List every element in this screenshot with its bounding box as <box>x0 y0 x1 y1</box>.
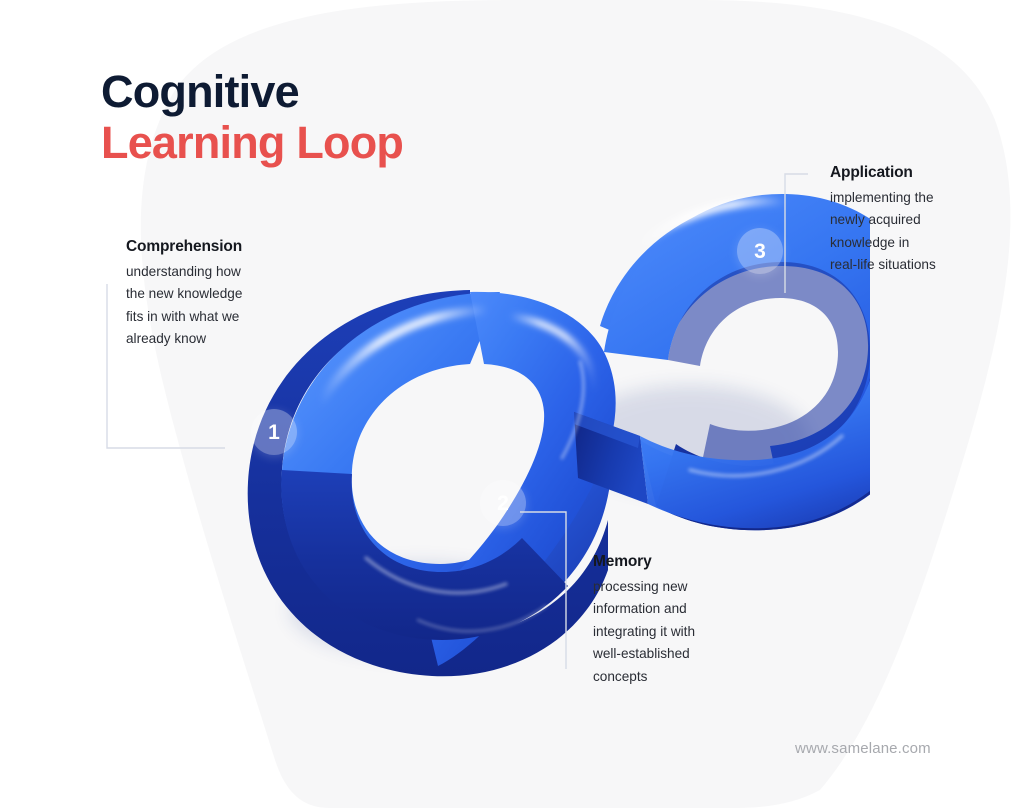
annotation-comprehension: Comprehension understanding howthe new k… <box>126 238 336 351</box>
title-line-primary: Cognitive <box>101 66 621 117</box>
annotation-memory: Memory processing newinformation andinte… <box>593 553 793 688</box>
step-badge-2-number: 2 <box>497 493 509 514</box>
step-badge-1[interactable]: 1 <box>251 409 297 455</box>
step-badge-3-number: 3 <box>754 241 766 262</box>
infographic-canvas: Cognitive Learning Loop <box>0 0 1024 808</box>
annotation-memory-title: Memory <box>593 553 793 571</box>
annotation-application-body: implementing thenewly acquiredknowledge … <box>830 187 1024 277</box>
annotation-application: Application implementing thenewly acquir… <box>830 164 1024 277</box>
footer-url: www.samelane.com <box>795 740 931 757</box>
annotation-memory-body: processing newinformation andintegrating… <box>593 576 793 688</box>
annotation-comprehension-body: understanding howthe new knowledgefits i… <box>126 261 336 351</box>
step-badge-3[interactable]: 3 <box>737 228 783 274</box>
annotation-comprehension-title: Comprehension <box>126 238 336 256</box>
step-badge-2[interactable]: 2 <box>480 480 526 526</box>
annotation-application-title: Application <box>830 164 1024 182</box>
step-badge-1-number: 1 <box>268 422 280 443</box>
